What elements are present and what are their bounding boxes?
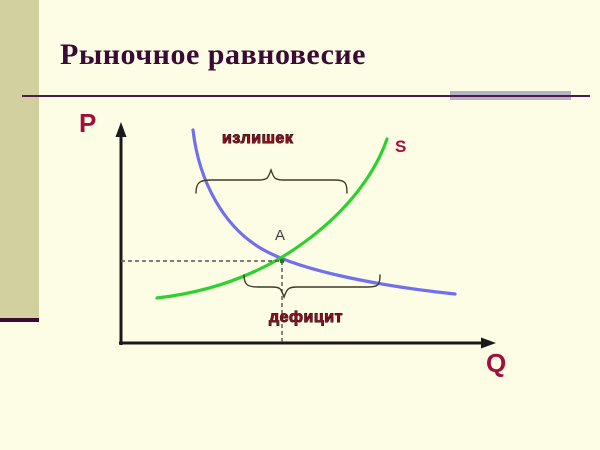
quantity-axis-label: Q: [486, 348, 506, 379]
surplus-brace: [196, 170, 347, 193]
supply-curve: [157, 139, 387, 298]
deficit-label: дефицит: [269, 309, 343, 327]
x-axis: [119, 338, 496, 349]
title-divider-rule: [22, 95, 590, 97]
surplus-label: излишек: [222, 130, 293, 148]
equilibrium-point-label: A: [275, 227, 285, 244]
market-equilibrium-chart: [0, 0, 600, 450]
y-axis: [116, 122, 127, 345]
slide-canvas: Рыночное равновесие P Q S A излишек дефи…: [0, 0, 600, 450]
demand-curve: [193, 130, 455, 294]
supply-curve-label: S: [395, 137, 406, 157]
equilibrium-point-marker: [280, 259, 285, 264]
price-axis-label: P: [79, 108, 96, 139]
